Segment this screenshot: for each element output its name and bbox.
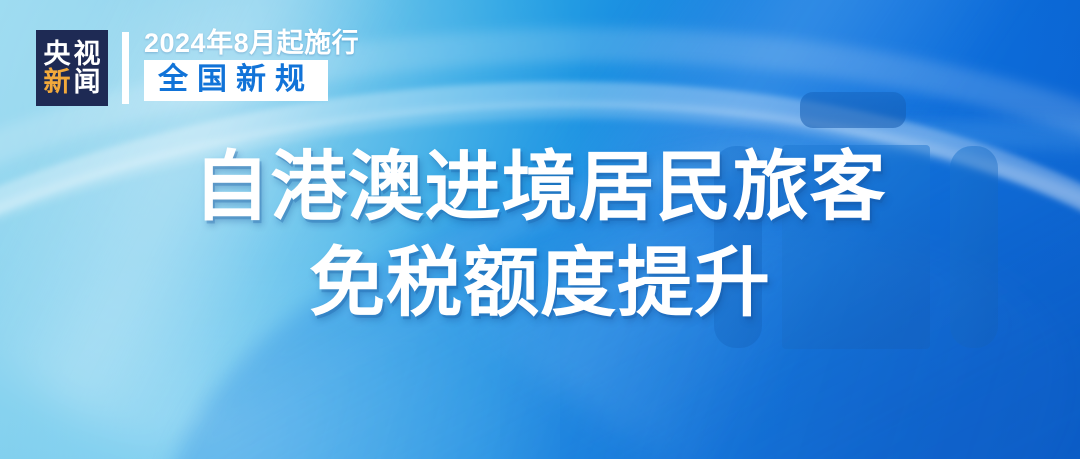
cctv-logo-char-xin: 新: [44, 69, 71, 95]
cctv-logo-char-wen: 闻: [74, 69, 101, 95]
header-divider: [122, 32, 129, 104]
headline-box-label: 全国新规: [158, 65, 314, 95]
cctv-news-logo: 央 视 新 闻: [36, 30, 108, 106]
poster-header: 央 视 新 闻 2024年8月起施行 全国新规: [36, 30, 359, 108]
main-title: 自港澳进境居民旅客 免税额度提升: [0, 150, 1080, 322]
headline-box: 全国新规: [144, 60, 328, 101]
main-title-line-1: 自港澳进境居民旅客: [0, 150, 1080, 226]
cctv-logo-char-yang: 央: [44, 41, 71, 67]
header-kicker: 2024年8月起施行: [144, 30, 359, 57]
news-poster: 央 视 新 闻 2024年8月起施行 全国新规 自港澳进境居民旅客 免税额度提升: [0, 0, 1080, 459]
header-text-group: 2024年8月起施行 全国新规: [144, 30, 359, 101]
cctv-logo-line-1: 央 视: [44, 41, 101, 67]
cctv-logo-line-2: 新 闻: [44, 69, 101, 95]
main-title-line-2: 免税额度提升: [0, 246, 1080, 322]
cctv-logo-char-shi: 视: [74, 41, 101, 67]
suitcase-handle: [800, 92, 906, 128]
